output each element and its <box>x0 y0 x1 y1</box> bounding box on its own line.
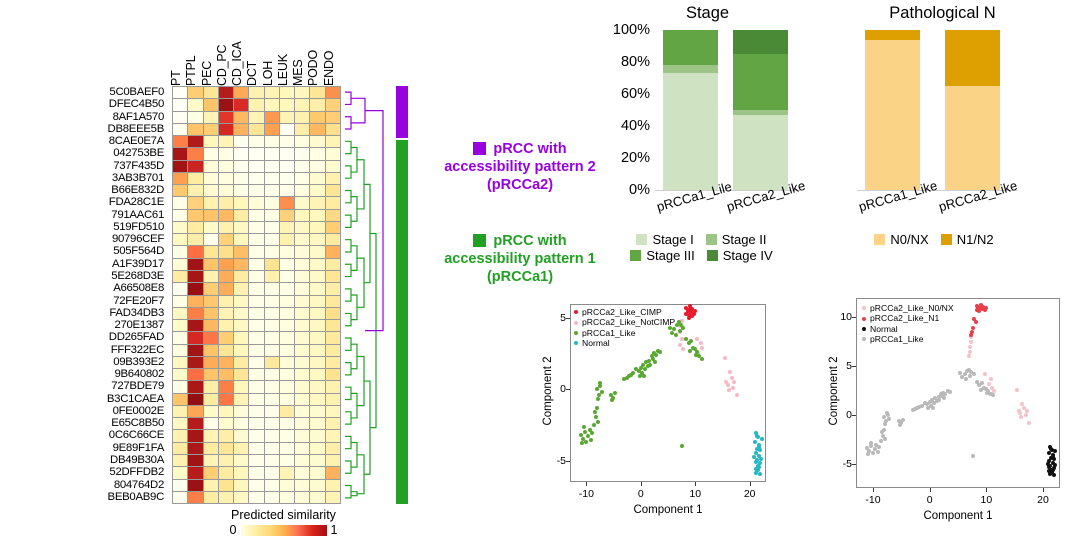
y-axis-tick-mark <box>852 366 856 367</box>
heatmap-cell <box>234 185 249 197</box>
heatmap-cell <box>173 406 188 418</box>
heatmap-cell <box>173 480 188 492</box>
heatmap-cell <box>204 185 219 197</box>
heatmap-cell <box>280 222 295 234</box>
heatmap-column-label-ptpl: PTPL <box>184 56 198 86</box>
heatmap-cell <box>188 112 203 124</box>
legend-swatch <box>630 250 641 261</box>
x-axis-tick-label: 10 <box>977 494 995 506</box>
chart-legend: pRCCa2_Like_N0/NXpRCCa2_Like_N1NormalpRC… <box>862 303 954 345</box>
heatmap-cell <box>295 467 310 479</box>
legend-prcca2-line1: pRCC with <box>493 141 566 157</box>
scatter-point <box>678 329 682 333</box>
heatmap-row <box>173 87 341 99</box>
bar-segment <box>663 73 718 190</box>
heatmap-cell <box>249 455 264 467</box>
heatmap-cell <box>249 185 264 197</box>
heatmap-cell <box>280 332 295 344</box>
heatmap-cell <box>280 173 295 185</box>
heatmap-cell <box>234 271 249 283</box>
heatmap-cell <box>204 234 219 246</box>
heatmap-row <box>173 467 341 479</box>
heatmap-cell <box>265 467 280 479</box>
heatmap-cell <box>204 345 219 357</box>
heatmap-cell <box>310 357 325 369</box>
heatmap-row <box>173 369 341 381</box>
scatter-point <box>885 411 889 415</box>
scatter-point <box>724 380 728 384</box>
heatmap-cell <box>234 320 249 332</box>
stacked-bar <box>663 30 718 190</box>
heatmap-cell <box>249 271 264 283</box>
heatmap-column-label-pt: PT <box>169 70 183 86</box>
legend-prcca1-line3: (pRCCa1) <box>487 269 553 285</box>
scatter-point <box>972 372 976 376</box>
colorbar-gradient <box>241 525 327 536</box>
heatmap-cell <box>295 394 310 406</box>
heatmap-row-label: 270E1387 <box>0 319 168 331</box>
heatmap-cell <box>295 173 310 185</box>
heatmap-cell <box>295 234 310 246</box>
heatmap-cell <box>326 418 341 430</box>
heatmap-row-label: DB49B30A <box>0 454 168 466</box>
scatter-point <box>968 345 972 349</box>
heatmap-cell <box>326 173 341 185</box>
heatmap-cell <box>188 357 203 369</box>
legend-item: Normal <box>862 324 954 334</box>
heatmap-row-label: 8CAE0E7A <box>0 135 168 147</box>
scatter-point <box>600 390 604 394</box>
scatter-point <box>681 347 685 351</box>
heatmap-cell <box>280 467 295 479</box>
heatmap-cell <box>265 345 280 357</box>
heatmap-cell <box>265 394 280 406</box>
heatmap-cell <box>173 430 188 442</box>
y-axis-tick-mark <box>852 464 856 465</box>
heatmap-column-label-cd_ica: CD_ICA <box>230 41 244 86</box>
heatmap-cell <box>265 87 280 99</box>
heatmap-cell <box>219 222 234 234</box>
heatmap-cell <box>295 430 310 442</box>
heatmap-row <box>173 492 341 504</box>
heatmap-cell <box>219 332 234 344</box>
scatter-point <box>882 415 886 419</box>
chart-title: Pathological N <box>835 4 1050 23</box>
heatmap-cell <box>249 161 264 173</box>
scatter-point <box>1046 462 1050 466</box>
scatter-point <box>658 350 662 354</box>
heatmap-row-label: 5E268D3E <box>0 270 168 282</box>
heatmap-cell <box>326 332 341 344</box>
scatter-point <box>758 472 762 476</box>
x-axis-tick-mark <box>586 482 587 486</box>
heatmap-cell <box>173 467 188 479</box>
legend-prcca2-line2: accessibility pattern 2 <box>444 159 596 175</box>
x-axis-tick-label: -10 <box>864 494 882 506</box>
heatmap-cell <box>295 443 310 455</box>
heatmap-cell <box>326 430 341 442</box>
heatmap-cell <box>188 185 203 197</box>
heatmap-cell <box>265 455 280 467</box>
heatmap-cell <box>219 345 234 357</box>
x-axis-label: Component 1 <box>570 504 766 516</box>
heatmap-cell <box>173 246 188 258</box>
heatmap-cell <box>326 320 341 332</box>
scatter-point <box>979 388 983 392</box>
heatmap-cell <box>280 246 295 258</box>
stacked-bar <box>945 30 1000 190</box>
heatmap-cell <box>234 161 249 173</box>
legend-marker <box>574 331 578 335</box>
bar-segment <box>733 54 788 110</box>
heatmap-cell <box>265 197 280 209</box>
heatmap-cell <box>234 443 249 455</box>
legend-marker <box>862 327 866 331</box>
heatmap-cell <box>173 161 188 173</box>
heatmap-cell <box>204 381 219 393</box>
y-axis-tick-label: 10 <box>828 311 852 323</box>
scatter-point <box>975 304 979 308</box>
y-axis-tick-label: 100% <box>613 22 650 38</box>
heatmap-cell <box>310 332 325 344</box>
heatmap-row-label: DB8EEE5B <box>0 123 168 135</box>
heatmap-cell <box>219 357 234 369</box>
heatmap-cell <box>188 296 203 308</box>
heatmap-cell <box>188 173 203 185</box>
heatmap-cell <box>173 222 188 234</box>
heatmap-cell <box>265 234 280 246</box>
heatmap-cell <box>204 357 219 369</box>
heatmap-cell <box>295 345 310 357</box>
heatmap-cell <box>173 332 188 344</box>
heatmap-cell <box>295 222 310 234</box>
x-axis-tick-mark <box>641 482 642 486</box>
heatmap-cell <box>234 136 249 148</box>
scatter-point <box>688 349 692 353</box>
heatmap-cell <box>204 332 219 344</box>
heatmap-cell <box>188 210 203 222</box>
heatmap-row <box>173 357 341 369</box>
heatmap-cell <box>173 394 188 406</box>
scatter-point <box>979 303 983 307</box>
heatmap-cell <box>280 271 295 283</box>
heatmap-row-label: 737F435D <box>0 160 168 172</box>
heatmap-cell <box>310 369 325 381</box>
legend-label: Stage III <box>646 248 694 263</box>
heatmap-cell <box>295 136 310 148</box>
heatmap-cell <box>326 283 341 295</box>
heatmap-row <box>173 320 341 332</box>
heatmap-cell <box>326 467 341 479</box>
scatter-point <box>754 467 758 471</box>
heatmap-cell <box>173 443 188 455</box>
heatmap-cell <box>326 369 341 381</box>
heatmap-cell <box>249 259 264 271</box>
heatmap-cell <box>249 87 264 99</box>
scatter-point <box>757 465 761 469</box>
heatmap-cell <box>295 283 310 295</box>
heatmap-cell <box>188 308 203 320</box>
heatmap-cell <box>204 112 219 124</box>
heatmap-cell <box>280 492 295 504</box>
scatter-point <box>687 316 691 320</box>
heatmap-row-label: 09B393E2 <box>0 356 168 368</box>
scatter-point <box>942 396 946 400</box>
scatter-point <box>699 341 703 345</box>
heatmap-cell <box>326 259 341 271</box>
heatmap-cell <box>219 443 234 455</box>
scatter-point <box>968 374 972 378</box>
legend-item: Stage II <box>706 232 767 247</box>
heatmap-cell <box>234 492 249 504</box>
heatmap-cell <box>173 345 188 357</box>
heatmap-cell <box>295 369 310 381</box>
heatmap-cell <box>188 430 203 442</box>
heatmap-row-label: 505F564D <box>0 245 168 257</box>
heatmap-cell <box>234 394 249 406</box>
scatter-point <box>610 398 614 402</box>
y-axis-tick-mark <box>852 415 856 416</box>
heatmap-cell <box>249 148 264 160</box>
heatmap-cell <box>204 124 219 136</box>
heatmap-cell <box>265 332 280 344</box>
pathological-n-bar-chart: Pathological NpRCCa1_LikepRCCa2_LikeN0/N… <box>835 4 1050 284</box>
legend-item: pRCCa1_Like <box>574 328 675 338</box>
heatmap-cell <box>188 381 203 393</box>
heatmap-cell <box>280 320 295 332</box>
colorbar-min-label: 0 <box>230 523 237 537</box>
heatmap-cell <box>173 308 188 320</box>
heatmap-cell <box>234 332 249 344</box>
heatmap-row <box>173 430 341 442</box>
heatmap-cell <box>234 308 249 320</box>
heatmap-cell <box>249 173 264 185</box>
scatter-point <box>1053 463 1057 467</box>
heatmap-row <box>173 394 341 406</box>
heatmap-cell <box>310 480 325 492</box>
scatter-point <box>883 437 887 441</box>
scatter-point <box>728 370 732 374</box>
heatmap-cell <box>234 124 249 136</box>
legend-label: Stage I <box>652 232 693 247</box>
heatmap-cell <box>234 418 249 430</box>
legend-item: Stage I <box>636 232 693 247</box>
heatmap-cell <box>326 357 341 369</box>
heatmap-cell <box>265 148 280 160</box>
heatmap-cell <box>173 369 188 381</box>
heatmap-cell <box>249 308 264 320</box>
heatmap-row-label: 519FD510 <box>0 221 168 233</box>
heatmap-cell <box>326 271 341 283</box>
heatmap-cell <box>173 271 188 283</box>
heatmap-cell <box>204 259 219 271</box>
y-axis-tick-label: -5 <box>542 455 566 467</box>
heatmap-cell <box>173 381 188 393</box>
scatter-point <box>937 398 941 402</box>
heatmap-cell <box>310 271 325 283</box>
heatmap-cell <box>310 148 325 160</box>
heatmap-cell <box>234 430 249 442</box>
heatmap-cell <box>295 210 310 222</box>
heatmap-column-label-dct: DCT <box>245 61 259 86</box>
heatmap-cell <box>219 283 234 295</box>
heatmap-cell <box>234 455 249 467</box>
heatmap-cell <box>188 87 203 99</box>
heatmap-cell <box>219 406 234 418</box>
cluster-bar-prcca2 <box>396 86 408 138</box>
scatter-point <box>759 457 763 461</box>
bar-segment <box>733 115 788 190</box>
scatter-point <box>680 337 684 341</box>
scatter-point <box>984 306 988 310</box>
heatmap-cell <box>265 136 280 148</box>
heatmap-colorbar: Predicted similarity 0 1 <box>196 508 371 537</box>
heatmap-cell <box>188 136 203 148</box>
scatter-point <box>989 377 993 381</box>
heatmap-cell <box>249 467 264 479</box>
heatmap-cell <box>219 455 234 467</box>
heatmap-cell <box>188 480 203 492</box>
heatmap-cell <box>280 308 295 320</box>
heatmap-cell <box>295 161 310 173</box>
scatter-point <box>593 410 597 414</box>
heatmap-cell <box>265 443 280 455</box>
heatmap-cell <box>249 197 264 209</box>
heatmap-cell <box>219 259 234 271</box>
heatmap-cell <box>188 271 203 283</box>
heatmap-cell <box>173 259 188 271</box>
heatmap-cell <box>249 406 264 418</box>
heatmap-cell <box>310 124 325 136</box>
heatmap-cell <box>280 124 295 136</box>
heatmap-cell <box>173 320 188 332</box>
heatmap-row-label: A1F39D17 <box>0 258 168 270</box>
heatmap-cell <box>219 394 234 406</box>
heatmap-column-label-cd_pc: CD_PC <box>215 45 229 86</box>
legend-label: pRCCa1_Like <box>870 334 924 344</box>
heatmap-cell <box>249 369 264 381</box>
legend-item: pRCCa1_Like <box>862 334 954 344</box>
plot-area <box>857 30 1017 190</box>
scatter-point <box>594 415 598 419</box>
heatmap-cell <box>234 406 249 418</box>
heatmap-cell <box>188 369 203 381</box>
scatter-point <box>590 431 594 435</box>
heatmap-cell <box>188 320 203 332</box>
heatmap-cell <box>265 296 280 308</box>
legend-label: pRCCa2_Like_N1 <box>870 313 939 323</box>
heatmap-cell <box>173 173 188 185</box>
y-axis-tick-label: 5 <box>542 312 566 324</box>
scatter-point <box>613 391 617 395</box>
legend-swatch <box>706 234 717 245</box>
heatmap-cell <box>204 406 219 418</box>
heatmap-cell <box>326 148 341 160</box>
heatmap-row <box>173 99 341 111</box>
legend-prcca2-line3: (pRCCa2) <box>487 177 553 193</box>
scatter-point <box>1024 413 1028 417</box>
scatter-point <box>876 450 880 454</box>
heatmap-cell <box>249 394 264 406</box>
heatmap-cell <box>234 357 249 369</box>
heatmap-cell <box>310 443 325 455</box>
scatter-point <box>1047 451 1051 455</box>
heatmap-cell <box>188 332 203 344</box>
legend-label: N0/NX <box>890 232 928 247</box>
bar-segment <box>865 30 920 40</box>
y-axis-label: Component 2 <box>542 351 554 431</box>
scatter-point <box>754 460 758 464</box>
plot-area: 0%20%40%60%80%100% <box>655 30 800 190</box>
heatmap-row <box>173 332 341 344</box>
heatmap-cell <box>204 148 219 160</box>
stacked-bar <box>865 30 920 190</box>
heatmap-row-label: FDA28C1E <box>0 196 168 208</box>
heatmap-cell <box>234 234 249 246</box>
heatmap-cell <box>310 406 325 418</box>
heatmap-cell <box>249 381 264 393</box>
scatter-point <box>866 452 870 456</box>
heatmap-cell <box>326 197 341 209</box>
heatmap-row <box>173 161 341 173</box>
heatmap-cell <box>188 148 203 160</box>
heatmap-cell <box>204 394 219 406</box>
scatter-plot-nodal: -10010201050-5Component 2Component 1pRCC… <box>800 294 1072 552</box>
heatmap-cell <box>295 418 310 430</box>
heatmap-cell <box>326 345 341 357</box>
heatmap-cell <box>265 283 280 295</box>
heatmap-row-label: 791AAC61 <box>0 209 168 221</box>
heatmap-cell <box>219 99 234 111</box>
heatmap-row <box>173 185 341 197</box>
heatmap-cell <box>219 418 234 430</box>
scatter-point <box>760 437 764 441</box>
heatmap-cell <box>188 222 203 234</box>
heatmap-cell <box>249 136 264 148</box>
x-axis-tick-mark <box>873 488 874 492</box>
heatmap-cell <box>326 296 341 308</box>
heatmap-row <box>173 418 341 430</box>
heatmap-cell <box>280 197 295 209</box>
colorbar-max-label: 1 <box>331 523 338 537</box>
heatmap-cell <box>188 467 203 479</box>
legend-marker <box>574 341 578 345</box>
x-axis-tick-label: 10 <box>686 488 704 500</box>
heatmap-cell <box>265 320 280 332</box>
heatmap-cell <box>173 418 188 430</box>
heatmap-cell <box>265 124 280 136</box>
heatmap-row-label: 804764D2 <box>0 479 168 491</box>
heatmap-row-label: BEB0AB9C <box>0 491 168 503</box>
legend-swatch <box>874 234 885 245</box>
heatmap-row <box>173 455 341 467</box>
scatter-point <box>596 420 600 424</box>
chart-legend: pRCCa2_Like_CIMPpRCCa2_Like_NotCIMPpRCCa… <box>574 307 675 349</box>
scatter-point <box>732 380 736 384</box>
legend-marker <box>862 306 866 310</box>
heatmap-cell <box>295 197 310 209</box>
heatmap-cell <box>234 173 249 185</box>
scatter-point <box>1053 449 1057 453</box>
heatmap-cell <box>310 234 325 246</box>
heatmap-cell <box>204 87 219 99</box>
legend-label: pRCCa2_Like_N0/NX <box>870 303 954 313</box>
heatmap-row <box>173 480 341 492</box>
heatmap-cell <box>310 210 325 222</box>
scatter-point <box>983 372 987 376</box>
heatmap-row-label: 5C0BAEF0 <box>0 86 168 98</box>
heatmap-cell <box>173 99 188 111</box>
